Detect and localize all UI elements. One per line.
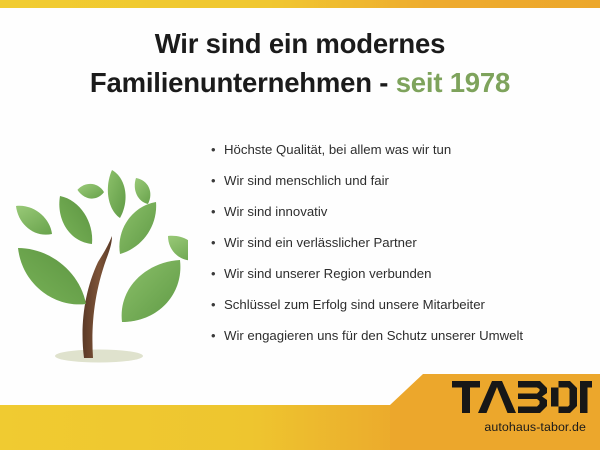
bullet-icon: • xyxy=(208,233,224,253)
slide-canvas: Wir sind ein modernes Familienunternehme… xyxy=(0,0,600,450)
tree-shadow xyxy=(55,350,143,363)
bullet-icon: • xyxy=(208,171,224,191)
tabor-wordmark-glyphs xyxy=(452,381,592,413)
headline-line-1: Wir sind ein modernes xyxy=(0,24,600,63)
list-item-label: Wir sind menschlich und fair xyxy=(224,171,389,191)
list-item: • Wir sind menschlich und fair xyxy=(208,171,600,202)
bullet-icon: • xyxy=(208,202,224,222)
page-title: Wir sind ein modernes Familienunternehme… xyxy=(0,24,600,102)
list-item: • Wir sind ein verlässlicher Partner xyxy=(208,233,600,264)
tree-leaves xyxy=(16,170,188,322)
bullet-icon: • xyxy=(208,295,224,315)
list-item: • Höchste Qualität, bei allem was wir tu… xyxy=(208,140,600,171)
tree-illustration xyxy=(8,148,188,370)
list-item-label: Wir sind unserer Region verbunden xyxy=(224,264,431,284)
list-item: • Wir sind unserer Region verbunden xyxy=(208,264,600,295)
list-item: • Schlüssel zum Erfolg sind unsere Mitar… xyxy=(208,295,600,326)
list-item: • Wir sind innovativ xyxy=(208,202,600,233)
list-item-label: Wir sind ein verlässlicher Partner xyxy=(224,233,417,253)
value-list: • Höchste Qualität, bei allem was wir tu… xyxy=(208,140,600,357)
list-item: • Wir engagieren uns für den Schutz unse… xyxy=(208,326,600,357)
logo-url: autohaus-tabor.de xyxy=(390,420,586,434)
tree-trunk xyxy=(83,236,112,358)
headline-line-2-main: Familienunternehmen - xyxy=(90,67,396,98)
headline-line-2: Familienunternehmen - seit 1978 xyxy=(0,63,600,102)
list-item-label: Schlüssel zum Erfolg sind unsere Mitarbe… xyxy=(224,295,485,315)
bullet-icon: • xyxy=(208,264,224,284)
bullet-icon: • xyxy=(208,326,224,346)
top-accent-bar xyxy=(0,0,600,8)
headline-accent-year: seit 1978 xyxy=(396,67,510,98)
list-item-label: Höchste Qualität, bei allem was wir tun xyxy=(224,140,451,160)
list-item-label: Wir sind innovativ xyxy=(224,202,327,222)
list-item-label: Wir engagieren uns für den Schutz unsere… xyxy=(224,326,523,346)
bullet-icon: • xyxy=(208,140,224,160)
tabor-logo xyxy=(452,381,592,413)
